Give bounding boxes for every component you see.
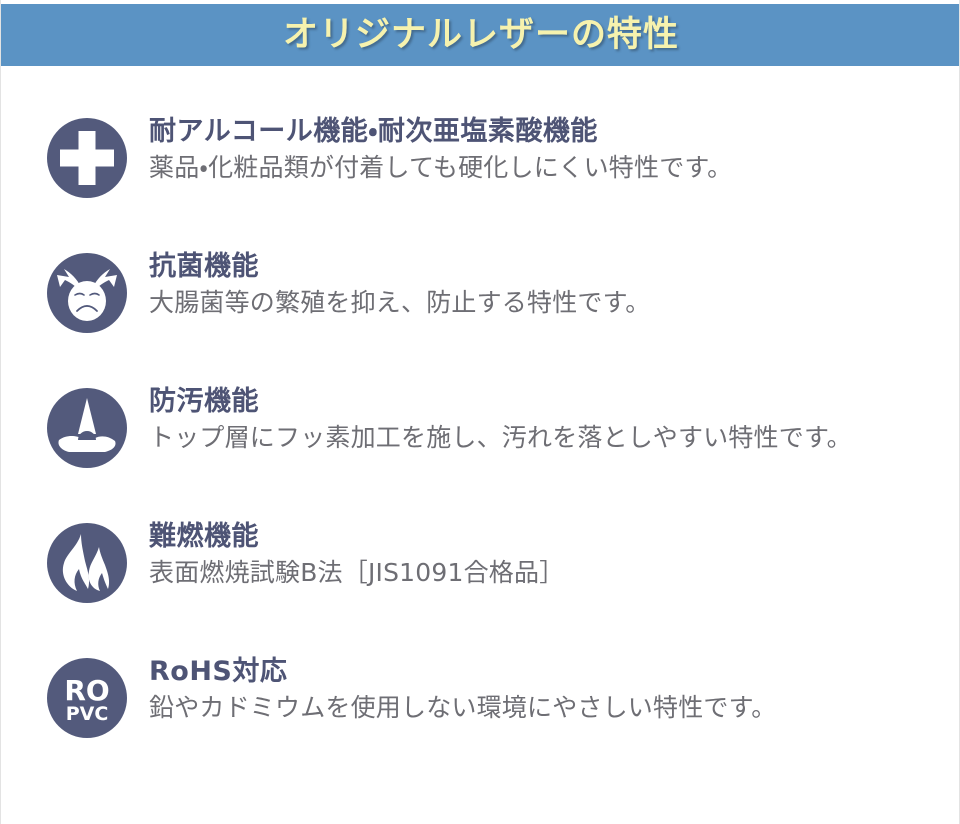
feature-row: RO PVC RoHS対応 鉛やカドミウムを使用しない環境にやさしい特性です。 [1, 610, 960, 745]
feature-title: 抗菌機能 [149, 251, 960, 284]
feature-poster: オリジナルレザーの特性 耐アルコール機能・耐次亜塩素酸機能 薬品・化粧品類が付着… [0, 0, 960, 824]
feature-list: 耐アルコール機能・耐次亜塩素酸機能 薬品・化粧品類が付着しても硬化しにくい特性で… [1, 70, 960, 745]
feature-row: 耐アルコール機能・耐次亜塩素酸機能 薬品・化粧品類が付着しても硬化しにくい特性で… [1, 70, 960, 205]
feature-description: 表面燃焼試験B法［JIS1091合格品］ [149, 557, 960, 590]
rohs-pvc-icon: RO PVC [47, 658, 127, 738]
bottom-spacer [1, 774, 960, 824]
feature-title: 耐アルコール機能・耐次亜塩素酸機能 [149, 116, 960, 149]
feature-text: 抗菌機能 大腸菌等の繁殖を抑え、防止する特性です。 [149, 251, 960, 319]
rohs-badge-bottom: PVC [66, 703, 109, 725]
feature-text: 耐アルコール機能・耐次亜塩素酸機能 薬品・化粧品類が付着しても硬化しにくい特性で… [149, 116, 960, 184]
antibacterial-germ-icon [47, 253, 127, 333]
water-droplet-icon [47, 388, 127, 468]
feature-title: RoHS対応 [149, 656, 960, 689]
page-title: オリジナルレザーの特性 [283, 18, 679, 53]
feature-text: 難燃機能 表面燃焼試験B法［JIS1091合格品］ [149, 521, 960, 589]
feature-description: 薬品・化粧品類が付着しても硬化しにくい特性です。 [149, 152, 960, 185]
feature-row: 抗菌機能 大腸菌等の繁殖を抑え、防止する特性です。 [1, 205, 960, 340]
feature-row: 防汚機能 トップ層にフッ素加工を施し、汚れを落としやすい特性です。 [1, 340, 960, 475]
feature-text: 防汚機能 トップ層にフッ素加工を施し、汚れを落としやすい特性です。 [149, 386, 960, 454]
cross-icon [47, 118, 127, 198]
poster-header: オリジナルレザーの特性 [1, 4, 960, 66]
feature-text: RoHS対応 鉛やカドミウムを使用しない環境にやさしい特性です。 [149, 656, 960, 724]
feature-title: 難燃機能 [149, 521, 960, 554]
feature-description: 大腸菌等の繁殖を抑え、防止する特性です。 [149, 287, 960, 320]
feature-description: トップ層にフッ素加工を施し、汚れを落としやすい特性です。 [149, 422, 960, 455]
feature-title: 防汚機能 [149, 386, 960, 419]
feature-row: 難燃機能 表面燃焼試験B法［JIS1091合格品］ [1, 475, 960, 610]
feature-description: 鉛やカドミウムを使用しない環境にやさしい特性です。 [149, 692, 960, 725]
flame-icon [47, 523, 127, 603]
